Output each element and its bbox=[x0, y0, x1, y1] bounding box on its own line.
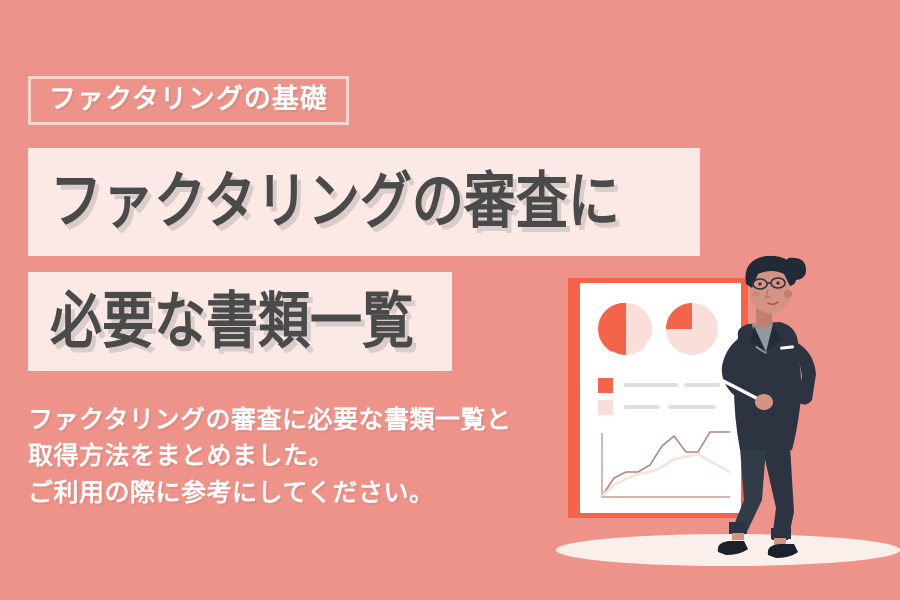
eye-left bbox=[758, 282, 761, 285]
lead-line-2: 取得方法をまとめました。 bbox=[28, 438, 512, 474]
page-title-line-2: 必要な書類一覧 bbox=[28, 291, 414, 352]
legend-bar-1a bbox=[624, 383, 678, 387]
pie-chart-right bbox=[666, 303, 718, 355]
cuff-front bbox=[729, 522, 747, 534]
lead-paragraph: ファクタリングの審査に必要な書類一覧と 取得方法をまとめました。 ご利用の際に参… bbox=[28, 402, 512, 511]
page-title-line-1: ファクタリングの審査に bbox=[28, 171, 620, 232]
title-band-secondary: 必要な書類一覧 bbox=[28, 272, 452, 371]
chart-poster bbox=[568, 278, 748, 518]
leg-back bbox=[762, 446, 794, 540]
promo-banner: ファクタリングの基礎 ファクタリングの審査に 必要な書類一覧 ファクタリングの審… bbox=[0, 0, 900, 600]
blush bbox=[752, 292, 760, 297]
category-badge: ファクタリングの基礎 bbox=[28, 76, 349, 125]
pie-chart-left bbox=[598, 303, 652, 355]
legend-swatch-2 bbox=[598, 400, 613, 415]
cuff-back bbox=[771, 528, 791, 539]
lead-line-1: ファクタリングの審査に必要な書類一覧と bbox=[28, 402, 512, 438]
legend-bar-1b bbox=[684, 383, 720, 387]
legend-bar-2a bbox=[624, 405, 660, 409]
ear bbox=[784, 290, 792, 298]
hand-front bbox=[755, 394, 773, 410]
hero-illustration bbox=[540, 250, 900, 600]
eye-right bbox=[776, 281, 779, 284]
ankle-back bbox=[774, 538, 786, 545]
title-band-primary: ファクタリングの審査に bbox=[28, 148, 700, 256]
legend-bar-2b bbox=[668, 405, 716, 409]
ankle-front bbox=[732, 533, 744, 540]
lead-line-3: ご利用の際に参考にしてください。 bbox=[28, 475, 512, 511]
legend-swatch-1 bbox=[598, 378, 613, 393]
